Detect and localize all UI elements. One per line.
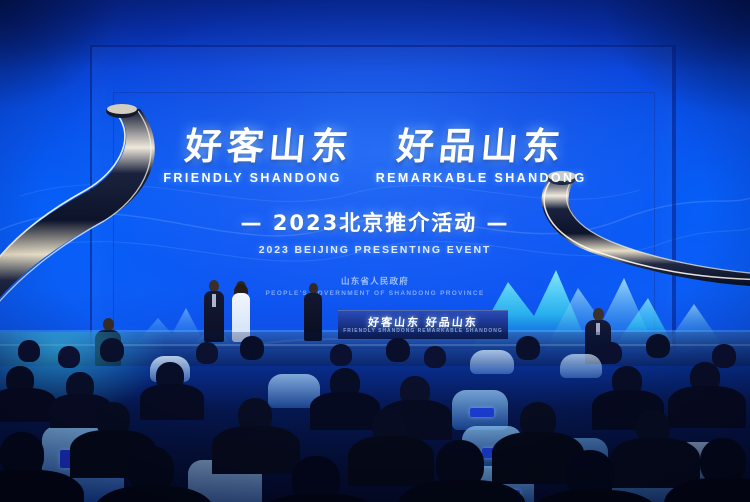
audience-shoulders <box>310 392 380 430</box>
audience-head <box>646 334 670 358</box>
audience-head <box>712 344 736 368</box>
event-subtitle-en: 2023 BEIJING PRESENTING EVENT <box>0 244 750 256</box>
headline-left-en: FRIENDLY SHANDONG <box>163 171 341 185</box>
audience-head <box>196 342 218 364</box>
audience-head <box>18 340 40 362</box>
audience-head <box>100 338 124 362</box>
audience-shoulders <box>212 426 300 474</box>
audience-shoulders <box>0 388 56 422</box>
screen-title-block: 好客山东 好品山东 FRIENDLY SHANDONG REMARKABLE S… <box>0 128 750 297</box>
audience-shoulders <box>668 386 746 428</box>
headline-right-cn: 好品山东 <box>395 128 566 165</box>
audience-shoulders <box>256 494 382 502</box>
chair-cover <box>470 350 514 374</box>
headline-right-en: REMARKABLE SHANDONG <box>376 171 587 185</box>
event-subtitle-cn: — 2023北京推介活动 — <box>0 207 750 237</box>
organizer-cn: 山东省人民政府 <box>0 275 750 287</box>
audience-head <box>600 342 622 364</box>
audience-head <box>516 336 540 360</box>
organizer-en: PEOPLE'S GOVERNMENT OF SHANDONG PROVINCE <box>0 290 750 297</box>
audience-head <box>424 346 446 368</box>
audience-area <box>0 332 750 502</box>
audience-head <box>330 344 352 366</box>
seat-placard <box>470 408 494 417</box>
headline-left-cn: 好客山东 <box>183 128 354 165</box>
audience-shoulders <box>610 438 700 488</box>
event-photo: 好客山东 好品山东 FRIENDLY SHANDONG REMARKABLE S… <box>0 0 750 502</box>
headline-en-row: FRIENDLY SHANDONG REMARKABLE SHANDONG <box>0 171 750 185</box>
audience-shoulders <box>140 384 204 420</box>
chair-cover <box>560 354 602 378</box>
audience-shoulders <box>348 436 434 486</box>
headline-cn-row: 好客山东 好品山东 <box>0 128 750 165</box>
audience-head <box>58 346 80 368</box>
audience-head <box>386 338 410 362</box>
audience-head <box>240 336 264 360</box>
